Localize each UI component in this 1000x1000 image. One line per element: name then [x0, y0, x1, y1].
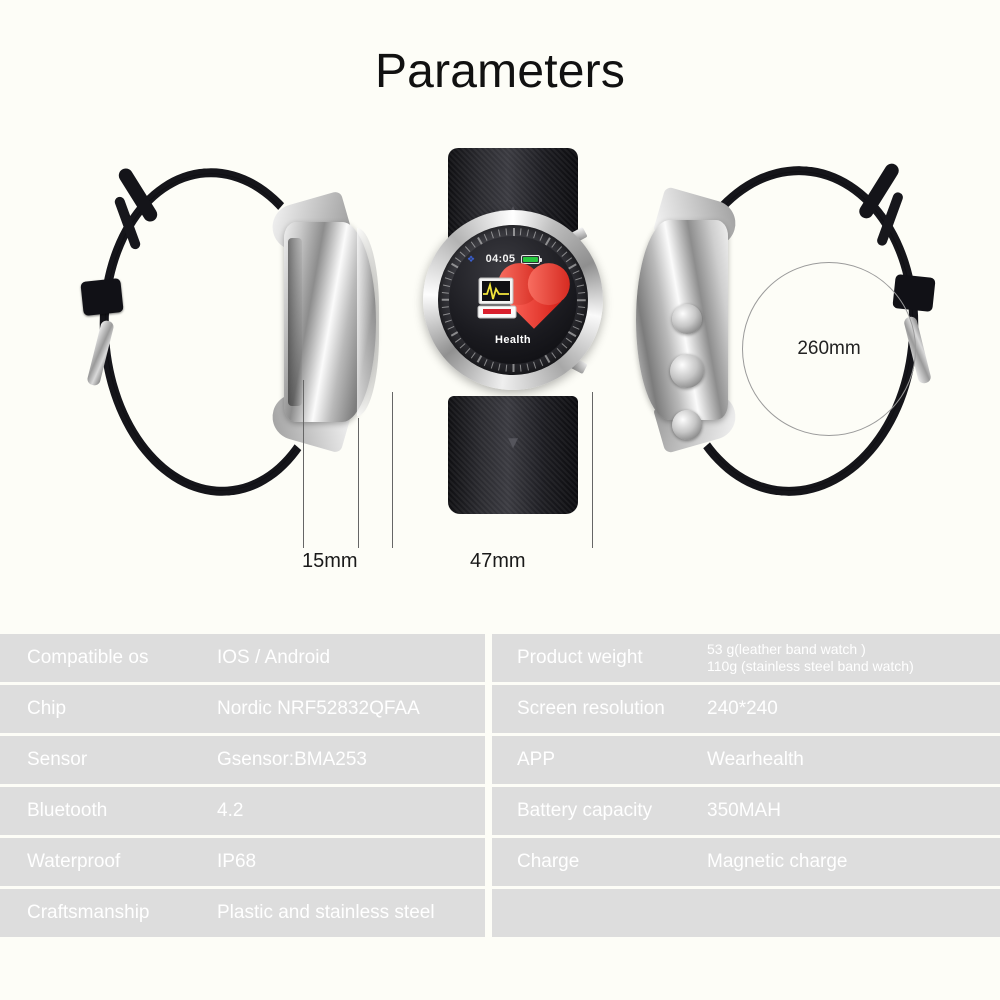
health-illustration	[449, 274, 577, 326]
spec-cell-right	[492, 889, 1000, 937]
spec-value: 240*240	[707, 698, 778, 720]
watch-screen[interactable]: ❖ 04:05	[449, 236, 577, 364]
dimension-label-case-diameter: 47mm	[470, 550, 526, 573]
dimension-label-circumference: 260mm	[797, 338, 860, 360]
spec-key: Product weight	[517, 647, 707, 669]
spec-key: Sensor	[27, 749, 217, 771]
watch-strap-bottom: ▼	[448, 396, 578, 514]
spec-cell-right: Screen resolution240*240	[492, 685, 1000, 733]
spec-key: Screen resolution	[517, 698, 707, 720]
spec-cell-left: ChipNordic NRF52832QFAA	[0, 685, 485, 733]
watch-bezel: ❖ 04:05	[423, 210, 603, 390]
watch-side-view-left	[88, 160, 378, 490]
spec-value: Gsensor:BMA253	[217, 749, 367, 771]
spec-cell-left: WaterproofIP68	[0, 838, 485, 886]
watch-crown-middle[interactable]	[670, 354, 704, 388]
table-row: WaterproofIP68ChargeMagnetic charge	[0, 838, 1000, 886]
battery-icon	[521, 255, 540, 264]
spec-value: Plastic and stainless steel	[217, 902, 435, 924]
spec-key: Battery capacity	[517, 800, 707, 822]
product-parameters-page: Parameters ▲ ▼	[0, 0, 1000, 1000]
page-title: Parameters	[0, 44, 1000, 99]
product-hero-illustration: ▲ ▼ ❖ 04:05	[0, 130, 1000, 610]
leader-line-band-left	[303, 380, 304, 548]
watch-front-view: ▲ ▼ ❖ 04:05	[420, 148, 605, 508]
spec-value: Nordic NRF52832QFAA	[217, 698, 420, 720]
spec-cell-right: Battery capacity350MAH	[492, 787, 1000, 835]
spec-value: Magnetic charge	[707, 851, 847, 873]
watch-case-right	[636, 220, 728, 420]
spec-key: Compatible os	[27, 647, 217, 669]
bluetooth-icon: ❖	[467, 254, 475, 265]
spec-key: Bluetooth	[27, 800, 217, 822]
band-circumference-circle: 260mm	[742, 262, 916, 436]
leader-line-case-left	[392, 392, 393, 548]
band-keeper-left	[80, 278, 123, 316]
table-row: CraftsmanshipPlastic and stainless steel	[0, 889, 1000, 937]
spec-cell-left: Bluetooth4.2	[0, 787, 485, 835]
ecg-monitor-icon	[477, 276, 519, 322]
dimension-label-band-width: 15mm	[302, 550, 358, 573]
table-row: ChipNordic NRF52832QFAAScreen resolution…	[0, 685, 1000, 733]
spec-cell-right: ChargeMagnetic charge	[492, 838, 1000, 886]
spec-cell-left: SensorGsensor:BMA253	[0, 736, 485, 784]
leader-line-case-right	[592, 392, 593, 548]
watch-case-left	[284, 222, 376, 422]
spec-value: IP68	[217, 851, 256, 873]
spec-cell-right: APPWearhealth	[492, 736, 1000, 784]
spec-value: 53 g(leather band watch )110g (stainless…	[707, 641, 914, 676]
spec-key: APP	[517, 749, 707, 771]
spec-key: Chip	[27, 698, 217, 720]
watch-crown-bottom[interactable]	[672, 410, 702, 440]
table-row: Bluetooth4.2Battery capacity350MAH	[0, 787, 1000, 835]
spec-key: Waterproof	[27, 851, 217, 873]
watch-crown-top[interactable]	[672, 304, 702, 334]
watch-bezel-inner: ❖ 04:05	[438, 225, 588, 375]
spec-key: Charge	[517, 851, 707, 873]
table-row: Compatible osIOS / AndroidProduct weight…	[0, 634, 1000, 682]
specification-table: Compatible osIOS / AndroidProduct weight…	[0, 634, 1000, 940]
watch-side-view-right: 260mm	[618, 158, 928, 493]
spec-key: Craftsmanship	[27, 902, 217, 924]
spec-value: 4.2	[217, 800, 243, 822]
spec-value: Wearhealth	[707, 749, 804, 771]
leader-line-band-right	[358, 418, 359, 548]
chevron-down-icon: ▼	[505, 434, 522, 451]
spec-cell-left: CraftsmanshipPlastic and stainless steel	[0, 889, 485, 937]
table-row: SensorGsensor:BMA253APPWearhealth	[0, 736, 1000, 784]
watch-app-label: Health	[449, 334, 577, 346]
spec-cell-right: Product weight53 g(leather band watch )1…	[492, 634, 1000, 682]
spec-value: 350MAH	[707, 800, 781, 822]
spec-cell-left: Compatible osIOS / Android	[0, 634, 485, 682]
spec-value: IOS / Android	[217, 647, 330, 669]
